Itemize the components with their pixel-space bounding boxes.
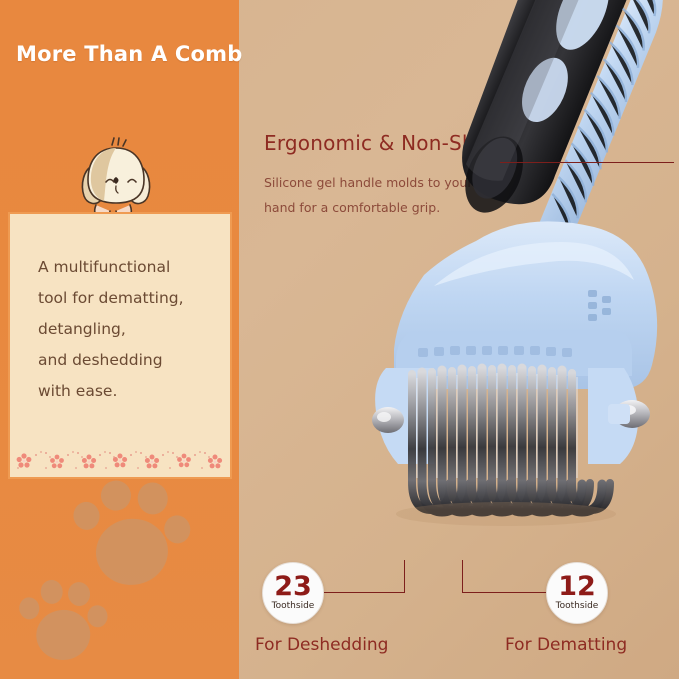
- dog-peeking-icon: [62, 130, 170, 222]
- toothside-badge-deshedding: 23 Toothside: [262, 562, 324, 624]
- badge-number: 12: [558, 574, 596, 600]
- flower-vine-border-icon: [10, 441, 230, 475]
- connector-left-vertical: [404, 560, 405, 593]
- connector-left-horizontal: [324, 592, 405, 593]
- badge-unit: Toothside: [556, 601, 599, 612]
- deshedding-label: For Deshedding: [255, 635, 388, 655]
- handle-pointer-line: [500, 162, 674, 163]
- description-line: detangling,: [38, 314, 218, 345]
- toothside-badge-dematting: 12 Toothside: [546, 562, 608, 624]
- badge-number: 23: [274, 574, 312, 600]
- description-line: A multifunctional: [38, 252, 218, 283]
- dematting-label: For Dematting: [505, 635, 627, 655]
- description-text: A multifunctional tool for dematting, de…: [38, 252, 218, 407]
- description-card: A multifunctional tool for dematting, de…: [8, 212, 232, 479]
- dematting-comb-product-photo: [236, 0, 679, 590]
- description-line: tool for dematting,: [38, 283, 218, 314]
- connector-right-vertical: [462, 560, 463, 593]
- badge-unit: Toothside: [272, 601, 315, 612]
- connector-right-horizontal: [462, 592, 546, 593]
- page-title: More Than A Comb: [16, 42, 242, 66]
- description-line: with ease.: [38, 376, 218, 407]
- description-line: and deshedding: [38, 345, 218, 376]
- product-infographic: More Than A Comb A multifunctional tool …: [0, 0, 679, 679]
- paw-print-decoration-icon: [0, 478, 239, 679]
